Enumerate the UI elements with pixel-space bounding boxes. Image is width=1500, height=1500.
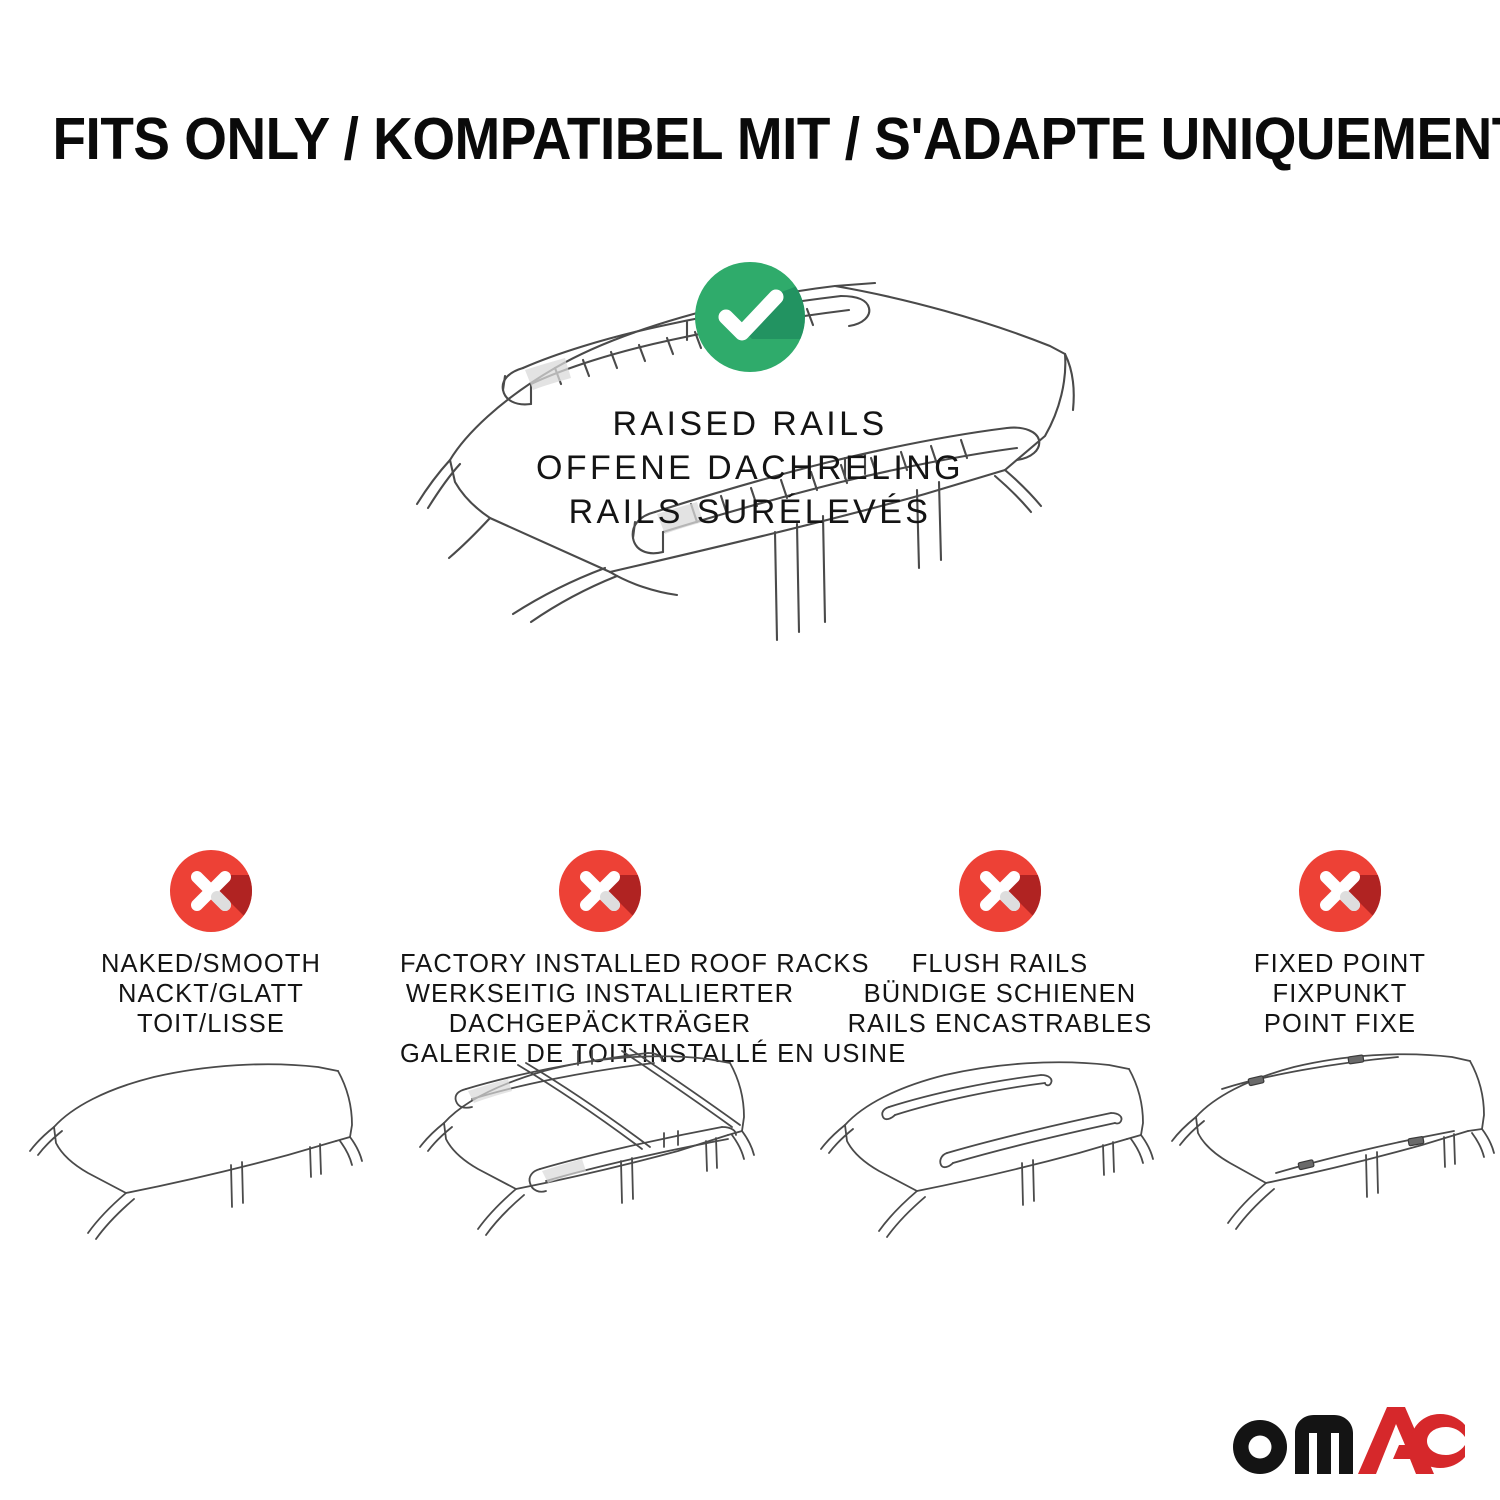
- incompatible-item-fixed-point: FIXED POINT FIXPUNKT POINT FIXE: [1190, 845, 1490, 1039]
- incompatible-label-en: FLUSH RAILS: [820, 949, 1180, 979]
- compatible-section: RAISED RAILS OFFENE DACHRELING RAILS SUR…: [0, 255, 1500, 534]
- illustration-factory-racks: [410, 1045, 790, 1295]
- x-circle-icon: [554, 845, 646, 937]
- incompatible-labels: NAKED/SMOOTH NACKT/GLATT TOIT/LISSE: [22, 949, 400, 1039]
- incompatible-label-fr: POINT FIXE: [1190, 1009, 1490, 1039]
- incompatible-label-en: FIXED POINT: [1190, 949, 1490, 979]
- incompatible-labels: FIXED POINT FIXPUNKT POINT FIXE: [1190, 949, 1490, 1039]
- illustration-flush-rails: [815, 1045, 1185, 1295]
- compatible-label-fr: RAILS SURÉLEVÉS: [0, 490, 1500, 534]
- incompatible-labels: FLUSH RAILS BÜNDIGE SCHIENEN RAILS ENCAS…: [820, 949, 1180, 1039]
- check-circle-icon: [688, 255, 812, 379]
- compatible-label-de: OFFENE DACHRELING: [0, 446, 1500, 490]
- incompatible-label-de: NACKT/GLATT: [22, 979, 400, 1009]
- incompatible-label-en: FACTORY INSTALLED ROOF RACKS: [400, 949, 800, 979]
- logo-letter-o: [1233, 1420, 1287, 1474]
- x-circle-icon: [954, 845, 1046, 937]
- incompatible-label-en: NAKED/SMOOTH: [22, 949, 400, 979]
- incompatible-label-de: FIXPUNKT: [1190, 979, 1490, 1009]
- incompatible-label-fr: RAILS ENCASTRABLES: [820, 1009, 1180, 1039]
- incompatible-item-flush-rails: FLUSH RAILS BÜNDIGE SCHIENEN RAILS ENCAS…: [820, 845, 1180, 1039]
- compatible-labels: RAISED RAILS OFFENE DACHRELING RAILS SUR…: [0, 402, 1500, 534]
- incompatible-item-factory-racks: FACTORY INSTALLED ROOF RACKS WERKSEITIG …: [400, 845, 800, 1069]
- compatible-label-en: RAISED RAILS: [0, 402, 1500, 446]
- incompatible-item-naked-smooth: NAKED/SMOOTH NACKT/GLATT TOIT/LISSE: [22, 845, 400, 1039]
- logo-letter-m: [1295, 1415, 1353, 1474]
- x-circle-icon: [1294, 845, 1386, 937]
- x-circle-icon: [165, 845, 257, 937]
- illustration-naked-smooth: [26, 1045, 396, 1295]
- incompatible-section: NAKED/SMOOTH NACKT/GLATT TOIT/LISSE: [0, 845, 1500, 1345]
- incompatible-label-fr: TOIT/LISSE: [22, 1009, 400, 1039]
- fitment-guide-page: FITS ONLY / KOMPATIBEL MIT / S'ADAPTE UN…: [0, 0, 1500, 1500]
- omac-logo: [1227, 1403, 1467, 1477]
- incompatible-label-de: BÜNDIGE SCHIENEN: [820, 979, 1180, 1009]
- incompatible-label-de-1: WERKSEITIG INSTALLIERTER: [400, 979, 800, 1009]
- page-title: FITS ONLY / KOMPATIBEL MIT / S'ADAPTE UN…: [53, 105, 1448, 173]
- incompatible-label-de-2: DACHGEPÄCKTRÄGER: [400, 1009, 800, 1039]
- illustration-fixed-point: [1170, 1045, 1500, 1295]
